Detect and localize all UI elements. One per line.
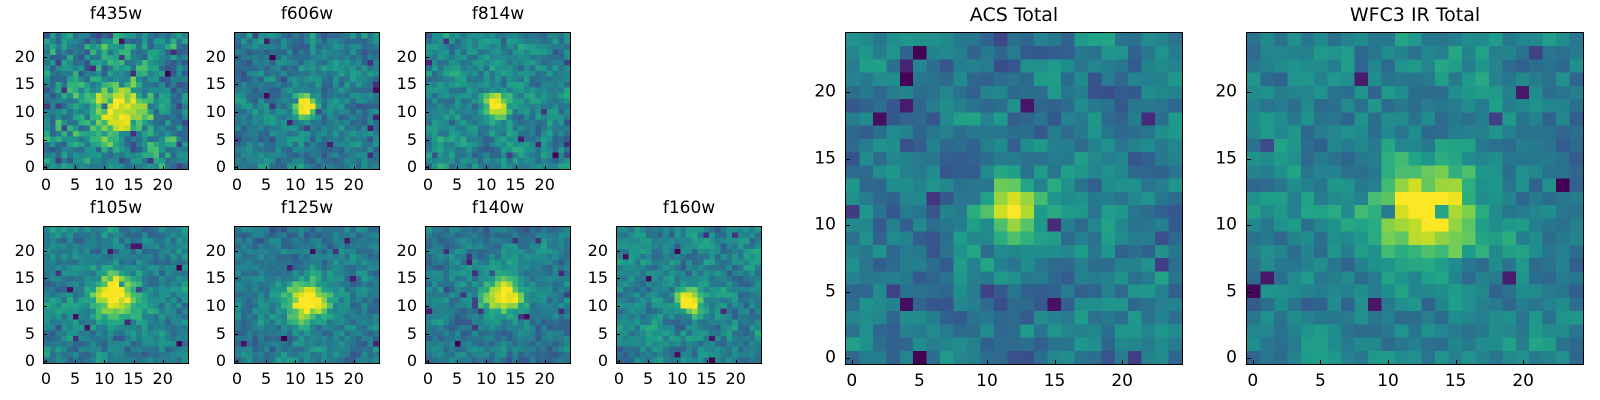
x-tick-f105w-15 xyxy=(134,360,135,364)
x-ticklabel-f125w-0: 0 xyxy=(232,371,242,387)
x-tick-acs-total-15 xyxy=(1055,360,1056,365)
y-tick-f140w-5 xyxy=(425,334,429,335)
figure-canvas: f435w0510152005101520f606w05101520051015… xyxy=(0,0,1600,400)
y-tick-f435w-10 xyxy=(43,112,47,113)
y-tick-acs-total-5 xyxy=(845,292,850,293)
y-tick-f160w-10 xyxy=(616,306,620,307)
plot-area-f160w xyxy=(616,226,762,364)
x-tick-f125w-15 xyxy=(325,360,326,364)
y-tick-f125w-5 xyxy=(234,334,238,335)
x-ticklabel-f435w-0: 0 xyxy=(41,177,51,193)
x-tick-f125w-20 xyxy=(354,360,355,364)
y-tick-f125w-15 xyxy=(234,278,238,279)
x-tick-f140w-5 xyxy=(457,360,458,364)
y-ticklabel-f105w-10: 10 xyxy=(3,298,35,314)
y-ticklabel-f160w-15: 15 xyxy=(576,270,608,286)
y-ticklabel-f606w-10: 10 xyxy=(194,104,226,120)
y-ticklabel-f814w-20: 20 xyxy=(385,49,417,65)
y-ticklabel-acs-total-20: 20 xyxy=(799,83,836,100)
y-tick-f606w-20 xyxy=(234,57,238,58)
y-tick-f435w-5 xyxy=(43,140,47,141)
y-tick-acs-total-15 xyxy=(845,159,850,160)
panel-wfc3-total: WFC3 IR Total0510152005101520 xyxy=(1200,0,1598,399)
y-tick-acs-total-20 xyxy=(845,92,850,93)
panel-f125w: f125w0510152005101520 xyxy=(194,194,394,398)
y-ticklabel-f435w-5: 5 xyxy=(3,132,35,148)
y-tick-f105w-10 xyxy=(43,306,47,307)
x-ticklabel-acs-total-20: 20 xyxy=(1111,373,1133,390)
x-ticklabel-f160w-15: 15 xyxy=(696,371,716,387)
x-ticklabel-f814w-15: 15 xyxy=(505,177,525,193)
x-tick-acs-total-0 xyxy=(852,360,853,365)
x-ticklabel-f435w-20: 20 xyxy=(153,177,173,193)
y-tick-f435w-15 xyxy=(43,84,47,85)
y-ticklabel-acs-total-15: 15 xyxy=(799,150,836,167)
x-ticklabel-f140w-0: 0 xyxy=(423,371,433,387)
y-tick-wfc3-total-0 xyxy=(1246,358,1251,359)
y-tick-acs-total-0 xyxy=(845,358,850,359)
panel-f435w: f435w0510152005101520 xyxy=(3,0,203,204)
x-tick-f814w-20 xyxy=(545,166,546,170)
y-tick-f814w-5 xyxy=(425,140,429,141)
plot-area-wfc3-total xyxy=(1246,32,1584,365)
x-tick-acs-total-5 xyxy=(919,360,920,365)
y-tick-wfc3-total-10 xyxy=(1246,225,1251,226)
y-tick-f140w-20 xyxy=(425,251,429,252)
y-ticklabel-acs-total-0: 0 xyxy=(799,350,836,367)
y-ticklabel-f160w-5: 5 xyxy=(576,326,608,342)
x-tick-f125w-5 xyxy=(266,360,267,364)
x-tick-f160w-15 xyxy=(707,360,708,364)
x-ticklabel-f435w-5: 5 xyxy=(70,177,80,193)
x-ticklabel-f160w-5: 5 xyxy=(643,371,653,387)
heatmap-image-f160w xyxy=(617,227,761,363)
y-tick-f125w-20 xyxy=(234,251,238,252)
y-ticklabel-f160w-10: 10 xyxy=(576,298,608,314)
y-tick-f140w-10 xyxy=(425,306,429,307)
x-tick-f125w-10 xyxy=(295,360,296,364)
y-tick-f814w-15 xyxy=(425,84,429,85)
y-ticklabel-f125w-5: 5 xyxy=(194,326,226,342)
x-tick-f160w-20 xyxy=(736,360,737,364)
y-ticklabel-f606w-20: 20 xyxy=(194,49,226,65)
y-tick-f105w-15 xyxy=(43,278,47,279)
x-ticklabel-f606w-5: 5 xyxy=(261,177,271,193)
y-ticklabel-f140w-5: 5 xyxy=(385,326,417,342)
x-ticklabel-f140w-15: 15 xyxy=(505,371,525,387)
y-ticklabel-f140w-15: 15 xyxy=(385,270,417,286)
x-tick-f606w-15 xyxy=(325,166,326,170)
x-ticklabel-f160w-0: 0 xyxy=(614,371,624,387)
x-tick-f435w-5 xyxy=(75,166,76,170)
panel-f105w: f105w0510152005101520 xyxy=(3,194,203,398)
y-tick-f606w-5 xyxy=(234,140,238,141)
x-tick-wfc3-total-20 xyxy=(1523,360,1524,365)
panel-f140w: f140w0510152005101520 xyxy=(385,194,585,398)
y-tick-f606w-0 xyxy=(234,167,238,168)
x-ticklabel-f606w-10: 10 xyxy=(285,177,305,193)
y-ticklabel-f606w-5: 5 xyxy=(194,132,226,148)
x-ticklabel-acs-total-0: 0 xyxy=(846,373,857,390)
plot-area-f814w xyxy=(425,32,571,170)
x-ticklabel-f105w-20: 20 xyxy=(153,371,173,387)
x-tick-f435w-10 xyxy=(104,166,105,170)
plot-area-f140w xyxy=(425,226,571,364)
y-ticklabel-f435w-20: 20 xyxy=(3,49,35,65)
x-tick-f105w-10 xyxy=(104,360,105,364)
y-tick-f125w-10 xyxy=(234,306,238,307)
y-ticklabel-wfc3-total-0: 0 xyxy=(1200,350,1237,367)
x-ticklabel-f125w-10: 10 xyxy=(285,371,305,387)
x-tick-f105w-5 xyxy=(75,360,76,364)
x-ticklabel-wfc3-total-20: 20 xyxy=(1512,373,1534,390)
heatmap-image-f105w xyxy=(44,227,188,363)
panel-title-f160w: f160w xyxy=(616,200,762,217)
x-tick-f606w-20 xyxy=(354,166,355,170)
x-tick-f140w-15 xyxy=(516,360,517,364)
x-ticklabel-f814w-20: 20 xyxy=(535,177,555,193)
y-ticklabel-f814w-10: 10 xyxy=(385,104,417,120)
x-ticklabel-f435w-10: 10 xyxy=(94,177,114,193)
x-tick-f606w-5 xyxy=(266,166,267,170)
x-tick-f814w-10 xyxy=(486,166,487,170)
y-ticklabel-f606w-15: 15 xyxy=(194,76,226,92)
x-tick-f160w-10 xyxy=(677,360,678,364)
panel-title-f606w: f606w xyxy=(234,6,380,23)
heatmap-image-acs-total xyxy=(846,33,1182,364)
y-tick-f160w-0 xyxy=(616,361,620,362)
y-ticklabel-f140w-0: 0 xyxy=(385,353,417,369)
x-ticklabel-wfc3-total-5: 5 xyxy=(1315,373,1326,390)
y-tick-f105w-20 xyxy=(43,251,47,252)
x-ticklabel-f105w-10: 10 xyxy=(94,371,114,387)
panel-title-wfc3-total: WFC3 IR Total xyxy=(1246,6,1584,25)
x-tick-wfc3-total-10 xyxy=(1388,360,1389,365)
x-ticklabel-f125w-5: 5 xyxy=(261,371,271,387)
heatmap-image-f814w xyxy=(426,33,570,169)
y-ticklabel-f125w-10: 10 xyxy=(194,298,226,314)
panel-title-f140w: f140w xyxy=(425,200,571,217)
x-ticklabel-f105w-5: 5 xyxy=(70,371,80,387)
y-tick-f140w-15 xyxy=(425,278,429,279)
x-ticklabel-wfc3-total-15: 15 xyxy=(1445,373,1467,390)
y-ticklabel-f125w-15: 15 xyxy=(194,270,226,286)
x-tick-f140w-10 xyxy=(486,360,487,364)
x-ticklabel-f606w-15: 15 xyxy=(314,177,334,193)
y-ticklabel-f140w-10: 10 xyxy=(385,298,417,314)
x-ticklabel-f105w-0: 0 xyxy=(41,371,51,387)
y-tick-f435w-0 xyxy=(43,167,47,168)
x-ticklabel-f606w-20: 20 xyxy=(344,177,364,193)
y-ticklabel-wfc3-total-15: 15 xyxy=(1200,150,1237,167)
x-ticklabel-acs-total-10: 10 xyxy=(976,373,998,390)
y-tick-wfc3-total-20 xyxy=(1246,92,1251,93)
y-ticklabel-f105w-20: 20 xyxy=(3,243,35,259)
y-ticklabel-f435w-15: 15 xyxy=(3,76,35,92)
y-tick-wfc3-total-5 xyxy=(1246,292,1251,293)
panel-title-f814w: f814w xyxy=(425,6,571,23)
x-ticklabel-f125w-20: 20 xyxy=(344,371,364,387)
y-ticklabel-f160w-20: 20 xyxy=(576,243,608,259)
x-ticklabel-f160w-10: 10 xyxy=(667,371,687,387)
y-ticklabel-f105w-15: 15 xyxy=(3,270,35,286)
y-tick-wfc3-total-15 xyxy=(1246,159,1251,160)
y-tick-f606w-10 xyxy=(234,112,238,113)
heatmap-image-f140w xyxy=(426,227,570,363)
y-tick-f140w-0 xyxy=(425,361,429,362)
heatmap-image-f125w xyxy=(235,227,379,363)
heatmap-image-wfc3-total xyxy=(1247,33,1583,364)
x-ticklabel-acs-total-15: 15 xyxy=(1044,373,1066,390)
panel-f814w: f814w0510152005101520 xyxy=(385,0,585,204)
x-ticklabel-f606w-0: 0 xyxy=(232,177,242,193)
panel-acs-total: ACS Total0510152005101520 xyxy=(799,0,1197,399)
y-ticklabel-f140w-20: 20 xyxy=(385,243,417,259)
panel-title-acs-total: ACS Total xyxy=(845,6,1183,25)
y-tick-f814w-0 xyxy=(425,167,429,168)
y-ticklabel-f814w-15: 15 xyxy=(385,76,417,92)
panel-title-f435w: f435w xyxy=(43,6,189,23)
y-ticklabel-f814w-0: 0 xyxy=(385,159,417,175)
x-tick-f814w-5 xyxy=(457,166,458,170)
y-tick-f435w-20 xyxy=(43,57,47,58)
x-ticklabel-f140w-10: 10 xyxy=(476,371,496,387)
x-ticklabel-wfc3-total-0: 0 xyxy=(1247,373,1258,390)
y-ticklabel-f125w-20: 20 xyxy=(194,243,226,259)
y-tick-f814w-20 xyxy=(425,57,429,58)
x-tick-wfc3-total-15 xyxy=(1456,360,1457,365)
y-ticklabel-f435w-0: 0 xyxy=(3,159,35,175)
x-tick-f140w-20 xyxy=(545,360,546,364)
x-ticklabel-f105w-15: 15 xyxy=(123,371,143,387)
x-ticklabel-f140w-5: 5 xyxy=(452,371,462,387)
y-tick-f160w-5 xyxy=(616,334,620,335)
panel-title-f125w: f125w xyxy=(234,200,380,217)
y-ticklabel-f105w-5: 5 xyxy=(3,326,35,342)
heatmap-image-f606w xyxy=(235,33,379,169)
plot-area-f105w xyxy=(43,226,189,364)
x-ticklabel-f814w-0: 0 xyxy=(423,177,433,193)
y-ticklabel-f435w-10: 10 xyxy=(3,104,35,120)
y-tick-f160w-20 xyxy=(616,251,620,252)
y-ticklabel-f606w-0: 0 xyxy=(194,159,226,175)
y-ticklabel-wfc3-total-5: 5 xyxy=(1200,283,1237,300)
plot-area-f606w xyxy=(234,32,380,170)
plot-area-f435w xyxy=(43,32,189,170)
x-ticklabel-f160w-20: 20 xyxy=(726,371,746,387)
y-tick-f814w-10 xyxy=(425,112,429,113)
y-tick-f160w-15 xyxy=(616,278,620,279)
y-ticklabel-wfc3-total-10: 10 xyxy=(1200,217,1237,234)
y-tick-f125w-0 xyxy=(234,361,238,362)
x-ticklabel-f814w-5: 5 xyxy=(452,177,462,193)
panel-title-f105w: f105w xyxy=(43,200,189,217)
y-ticklabel-f814w-5: 5 xyxy=(385,132,417,148)
y-ticklabel-acs-total-5: 5 xyxy=(799,283,836,300)
x-tick-f814w-15 xyxy=(516,166,517,170)
panel-f606w: f606w0510152005101520 xyxy=(194,0,394,204)
x-tick-f160w-5 xyxy=(648,360,649,364)
x-tick-f606w-10 xyxy=(295,166,296,170)
y-ticklabel-wfc3-total-20: 20 xyxy=(1200,83,1237,100)
y-ticklabel-f105w-0: 0 xyxy=(3,353,35,369)
x-tick-acs-total-20 xyxy=(1122,360,1123,365)
panel-f160w: f160w0510152005101520 xyxy=(576,194,776,398)
x-tick-f435w-15 xyxy=(134,166,135,170)
y-ticklabel-acs-total-10: 10 xyxy=(799,217,836,234)
y-tick-f105w-5 xyxy=(43,334,47,335)
heatmap-image-f435w xyxy=(44,33,188,169)
plot-area-acs-total xyxy=(845,32,1183,365)
x-tick-f435w-20 xyxy=(163,166,164,170)
x-ticklabel-acs-total-5: 5 xyxy=(914,373,925,390)
y-tick-f105w-0 xyxy=(43,361,47,362)
x-ticklabel-f125w-15: 15 xyxy=(314,371,334,387)
x-tick-f105w-20 xyxy=(163,360,164,364)
y-tick-f606w-15 xyxy=(234,84,238,85)
x-tick-acs-total-10 xyxy=(987,360,988,365)
x-ticklabel-f814w-10: 10 xyxy=(476,177,496,193)
y-tick-acs-total-10 xyxy=(845,225,850,226)
y-ticklabel-f125w-0: 0 xyxy=(194,353,226,369)
x-ticklabel-wfc3-total-10: 10 xyxy=(1377,373,1399,390)
x-tick-wfc3-total-0 xyxy=(1253,360,1254,365)
x-ticklabel-f435w-15: 15 xyxy=(123,177,143,193)
y-ticklabel-f160w-0: 0 xyxy=(576,353,608,369)
x-tick-wfc3-total-5 xyxy=(1320,360,1321,365)
plot-area-f125w xyxy=(234,226,380,364)
x-ticklabel-f140w-20: 20 xyxy=(535,371,555,387)
